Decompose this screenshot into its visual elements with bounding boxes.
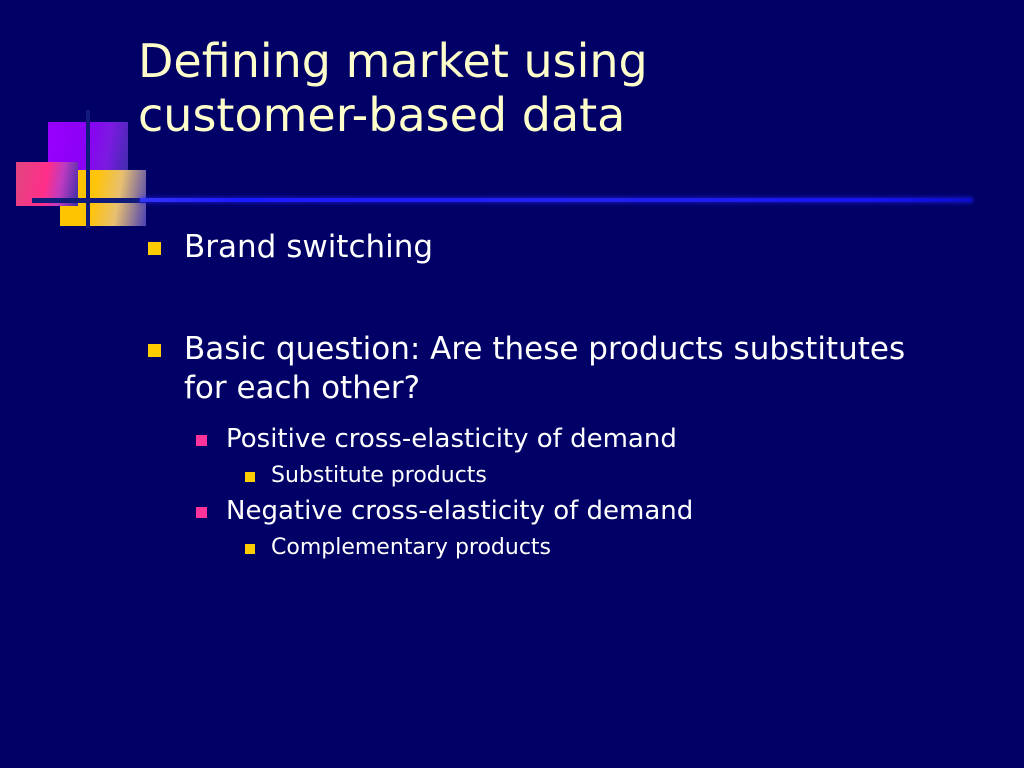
bullet-item-level2: Negative cross-elasticity of demand (0, 495, 1024, 528)
presentation-slide: Defining market using customer-based dat… (0, 0, 1024, 768)
logo-vertical-line (86, 110, 90, 228)
bullet-text: Complementary products (271, 534, 551, 562)
slide-body: Brand switching Basic question: Are thes… (0, 228, 1024, 561)
square-bullet-icon (148, 242, 161, 255)
bullet-item-level1: Basic question: Are these products subst… (0, 330, 1024, 409)
square-bullet-icon (245, 544, 255, 554)
spacer (0, 409, 1024, 423)
square-bullet-icon (196, 507, 207, 518)
spacer (0, 268, 1024, 330)
bullet-text: Substitute products (271, 462, 487, 490)
bullet-item-level2: Positive cross-elasticity of demand (0, 423, 1024, 456)
bullet-item-level1: Brand switching (0, 228, 1024, 268)
square-bullet-icon (245, 472, 255, 482)
bullet-text: Brand switching (184, 228, 433, 268)
square-bullet-icon (196, 435, 207, 446)
square-bullet-icon (148, 344, 161, 357)
bullet-text: Basic question: Are these products subst… (184, 330, 924, 409)
decorative-squares-logo (14, 110, 154, 228)
title-divider-line (140, 198, 972, 202)
slide-title: Defining market using customer-based dat… (138, 34, 978, 143)
bullet-item-level3: Complementary products (0, 534, 1024, 562)
logo-horizontal-line (32, 198, 146, 203)
bullet-item-level3: Substitute products (0, 462, 1024, 490)
bullet-text: Positive cross-elasticity of demand (226, 423, 677, 456)
bullet-text: Negative cross-elasticity of demand (226, 495, 693, 528)
